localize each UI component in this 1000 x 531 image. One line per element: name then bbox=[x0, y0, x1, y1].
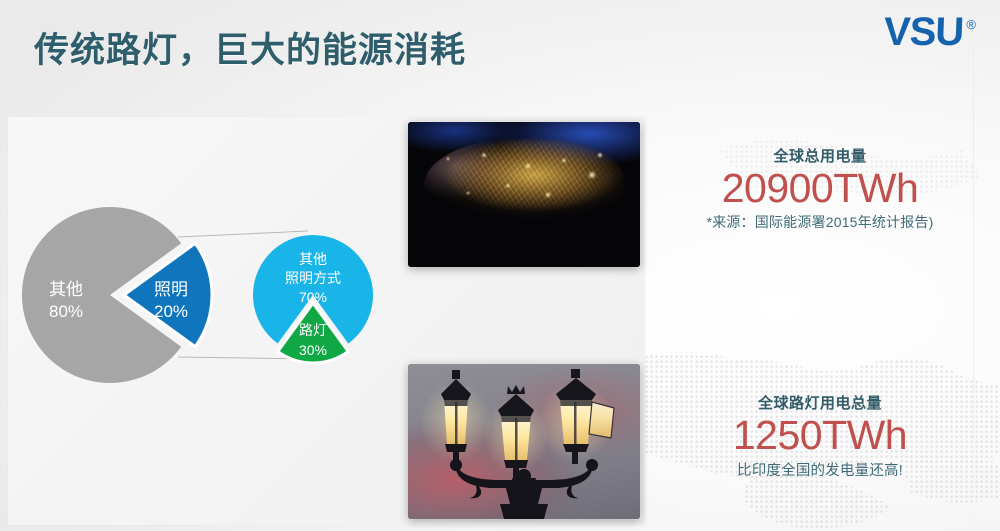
stat-streetlight-electricity: 全球路灯用电总量 1250TWh 比印度全国的发电量还高! bbox=[650, 392, 990, 480]
registered-trademark-icon: ® bbox=[966, 17, 976, 32]
logo-wordmark: VSU bbox=[883, 13, 964, 51]
street-lamp-illustration bbox=[408, 364, 640, 519]
stat-bottom-label: 全球路灯用电总量 bbox=[650, 392, 990, 413]
night-earth-photo bbox=[408, 122, 640, 267]
pie2-other-percent: 70% bbox=[299, 289, 327, 305]
pie-chart-lighting: 其他 照明方式 70% 路灯 30% bbox=[253, 235, 373, 363]
pie2-streetlamp-percent: 30% bbox=[299, 342, 327, 358]
pie2-streetlamp-label: 路灯 bbox=[299, 322, 327, 338]
pie-chart-cluster: 其他 80% 照明 20% 其他 照明方式 70% 路灯 30% bbox=[0, 117, 400, 417]
pie1-lighting-label: 照明 bbox=[154, 280, 188, 299]
stat-global-electricity: 全球总用电量 20900TWh *来源：国际能源署2015年统计报告) bbox=[650, 145, 990, 232]
page-title: 传统路灯，巨大的能源消耗 bbox=[34, 22, 466, 73]
pie1-other-percent: 80% bbox=[49, 302, 83, 321]
slide-canvas: 传统路灯，巨大的能源消耗 VSU ® 其他 80% 照明 20% bbox=[0, 0, 1000, 531]
stat-top-value: 20900TWh bbox=[650, 166, 990, 212]
pie2-other-label-line1: 其他 bbox=[299, 251, 327, 267]
street-lamp-photo bbox=[408, 364, 640, 519]
pie2-other-label-line2: 照明方式 bbox=[285, 270, 341, 286]
stat-top-label: 全球总用电量 bbox=[650, 145, 990, 166]
stat-bottom-note: 比印度全国的发电量还高! bbox=[650, 459, 990, 480]
stat-top-note: *来源：国际能源署2015年统计报告) bbox=[650, 212, 990, 232]
vsu-logo: VSU ® bbox=[884, 13, 976, 51]
stat-bottom-value: 1250TWh bbox=[650, 413, 990, 459]
pie1-lighting-percent: 20% bbox=[154, 302, 188, 321]
night-earth-light-network bbox=[408, 122, 640, 267]
pie1-other-label: 其他 bbox=[49, 280, 83, 299]
